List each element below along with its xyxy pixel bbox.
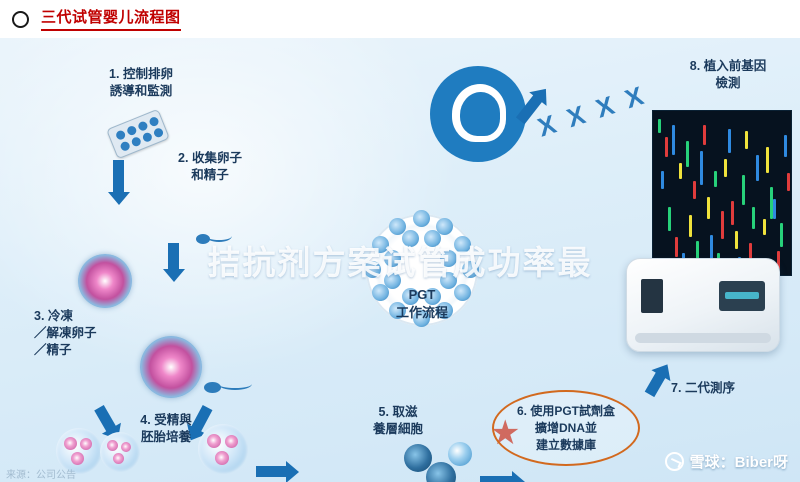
- page-title: 三代试管婴儿流程图: [41, 8, 181, 31]
- ivf-process-diagram: 1. 控制排卵 誘導和監測 2. 收集卵子 和精子 3. 冷凍 ／解凍卵子 ／精…: [0, 38, 800, 482]
- pgt-center-label: PGT 工作流程: [352, 286, 492, 322]
- step-1-label: 1. 控制排卵 誘導和監測: [76, 66, 206, 100]
- sperm-tail-icon-upper: [206, 230, 232, 242]
- page-root: 三代试管婴儿流程图 1. 控制排卵 誘導和監測 2. 收集卵子 和精子 3. 冷…: [0, 0, 800, 482]
- step-8-label: 8. 植入前基因 檢測: [664, 58, 792, 92]
- source-note: 来源：公司公告: [6, 466, 76, 481]
- arrow-step2-to-fertilisation: [168, 243, 179, 271]
- oocyte-icon: [78, 254, 132, 308]
- gene-sequencing-panel-icon: [652, 110, 792, 276]
- sperm-tail-icon: [218, 378, 252, 390]
- step-3-label: 3. 冷凍 ／解凍卵子 ／精子: [34, 308, 146, 359]
- xueqiu-badge: 雪球：Biber呀: [665, 451, 788, 472]
- sequencer-machine-icon: [626, 258, 780, 352]
- xueqiu-badge-text: 雪球：Biber呀: [690, 451, 788, 472]
- arrow-step4-to-step5: [256, 466, 288, 477]
- step-5-label: 5. 取滋 養層細胞: [352, 404, 444, 438]
- fertilisation-oocyte-icon: [140, 336, 202, 398]
- page-header: 三代试管婴儿流程图: [0, 0, 800, 38]
- trophectoderm-cells-icon: [404, 440, 476, 482]
- circle-outline-icon: [12, 11, 29, 28]
- xueqiu-logo-icon: [665, 452, 684, 471]
- chromosome-icon: X X X X: [534, 79, 650, 143]
- fetus-icon: [430, 66, 526, 162]
- arrow-step5-to-step6: [480, 476, 514, 482]
- step-4-label: 4. 受精與 胚胎培養: [108, 412, 224, 446]
- arrow-step1-to-step3: [113, 160, 124, 194]
- step-6-callout: 6. 使用PGT試劑盒 擴增DNA並 建立數據庫: [492, 390, 640, 466]
- step-2-label: 2. 收集卵子 和精子: [150, 150, 270, 184]
